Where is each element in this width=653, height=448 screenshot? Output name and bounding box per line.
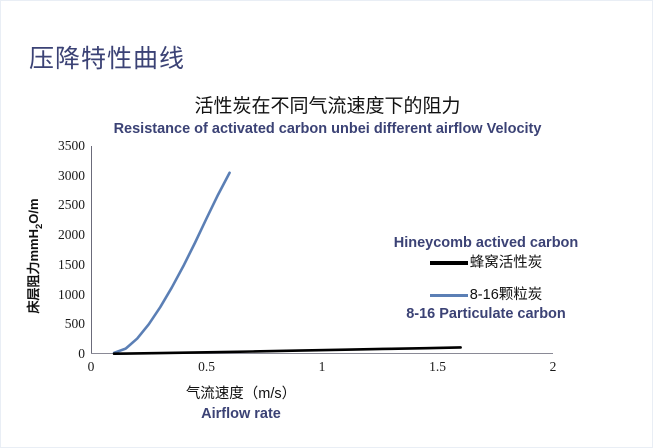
x-axis-tick-label: 0: [71, 359, 111, 375]
chart-title-english: Resistance of activated carbon unbei dif…: [1, 120, 653, 139]
legend-label-particulate-en: 8-16 Particulate carbon: [361, 305, 611, 324]
legend-label-honeycomb-cn: 蜂窝活性炭: [361, 253, 611, 273]
y-axis-title-text: 床层阻力mmH2O/m: [23, 198, 45, 313]
y-axis-title: 床层阻力mmH2O/m: [25, 181, 43, 331]
series-line-particulate-carbon: [114, 173, 230, 353]
legend-entry-honeycomb: Hineycomb actived carbon 蜂窝活性炭: [361, 234, 611, 273]
y-axis-tick-label: 1500: [39, 258, 85, 272]
y-axis-tick-label: 2000: [39, 228, 85, 242]
x-axis-title-english: Airflow rate: [1, 405, 481, 424]
series-line-honeycomb-carbon: [114, 347, 461, 353]
slide-canvas: 压降特性曲线 活性炭在不同气流速度下的阻力 Resistance of acti…: [0, 0, 653, 448]
x-axis-tick-label: 2: [533, 359, 573, 375]
x-axis-tick-label: 0.5: [187, 359, 227, 375]
chart-legend: Hineycomb actived carbon 蜂窝活性炭 8-16颗粒炭 8…: [361, 234, 611, 336]
legend-text-particulate-cn: 8-16颗粒炭: [470, 285, 543, 305]
legend-text-honeycomb-cn: 蜂窝活性炭: [470, 253, 543, 273]
x-axis-title-chinese: 气流速度（m/s）: [1, 385, 481, 404]
x-axis-tick-label: 1.5: [418, 359, 458, 375]
chart-title-chinese: 活性炭在不同气流速度下的阻力: [1, 95, 653, 119]
x-axis-tick-label: 1: [302, 359, 342, 375]
legend-swatch-black: [430, 261, 468, 265]
y-axis-tick-label: 2500: [39, 198, 85, 212]
y-axis-tick-label: 3500: [39, 139, 85, 153]
y-axis-tick-label: 500: [39, 317, 85, 331]
legend-swatch-blue: [430, 294, 468, 297]
legend-label-particulate-cn: 8-16颗粒炭: [361, 285, 611, 305]
legend-label-honeycomb-en: Hineycomb actived carbon: [361, 234, 611, 253]
legend-entry-particulate: 8-16颗粒炭 8-16 Particulate carbon: [361, 285, 611, 324]
y-axis-tick-label: 3000: [39, 169, 85, 183]
y-axis-tick-label: 1000: [39, 288, 85, 302]
page-title: 压降特性曲线: [29, 44, 185, 74]
x-axis-tick-labels: 00.511.52: [91, 359, 553, 377]
